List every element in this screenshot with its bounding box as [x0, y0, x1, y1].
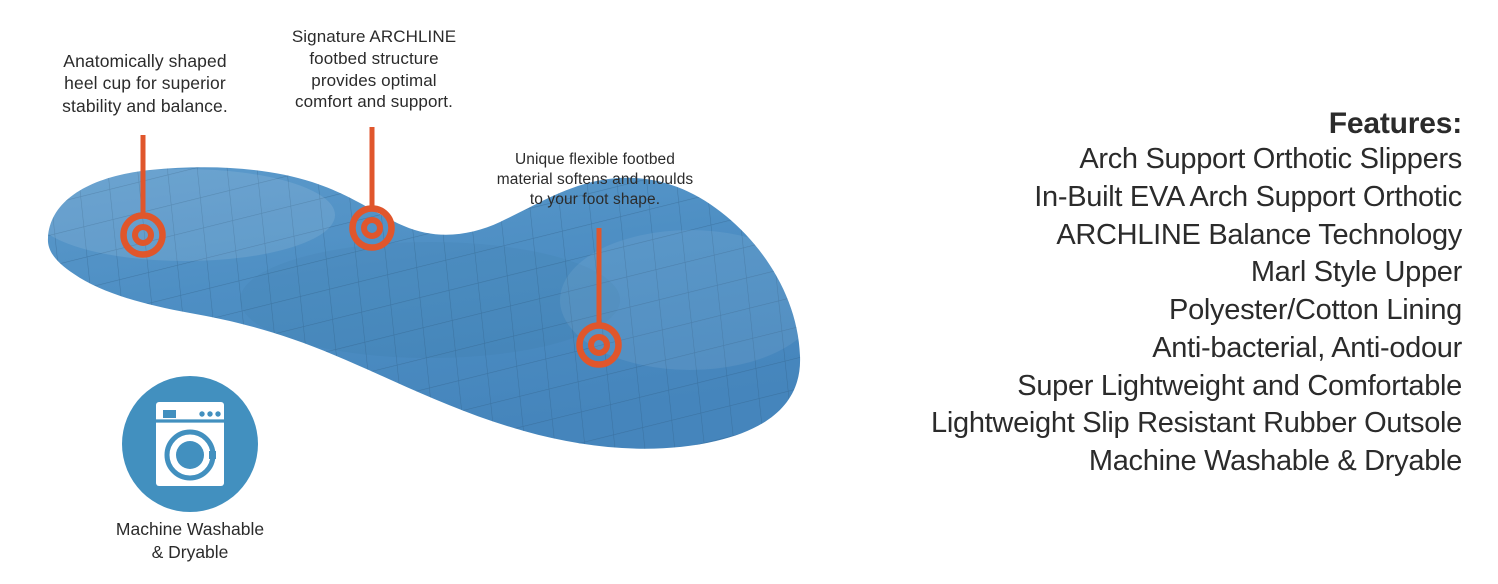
features-title: Features: — [822, 106, 1462, 141]
washing-machine-icon — [122, 376, 258, 512]
callout-flexible-material-text: Unique flexible footbed material softens… — [480, 150, 710, 209]
features-list: Arch Support Orthotic SlippersIn-Built E… — [822, 141, 1462, 480]
feature-item: Polyester/Cotton Lining — [822, 292, 1462, 330]
machine-washable-caption: Machine Washable & Dryable — [70, 518, 310, 564]
feature-item: Anti-bacterial, Anti-odour — [822, 330, 1462, 368]
feature-item: Lightweight Slip Resistant Rubber Outsol… — [822, 405, 1462, 443]
features-panel: Features: Arch Support Orthotic Slippers… — [822, 106, 1462, 481]
feature-item: Arch Support Orthotic Slippers — [822, 141, 1462, 179]
feature-item: Marl Style Upper — [822, 254, 1462, 292]
machine-washable-badge — [122, 376, 258, 512]
feature-item: Super Lightweight and Comfortable — [822, 368, 1462, 406]
infographic-canvas: Anatomically shaped heel cup for superio… — [0, 0, 1498, 584]
callout-footbed-structure-text: Signature ARCHLINE footbed structure pro… — [270, 26, 478, 113]
feature-item: In-Built EVA Arch Support Orthotic — [822, 179, 1462, 217]
feature-item: Machine Washable & Dryable — [822, 443, 1462, 481]
feature-item: ARCHLINE Balance Technology — [822, 217, 1462, 255]
callout-heel-cup-text: Anatomically shaped heel cup for superio… — [40, 50, 250, 117]
